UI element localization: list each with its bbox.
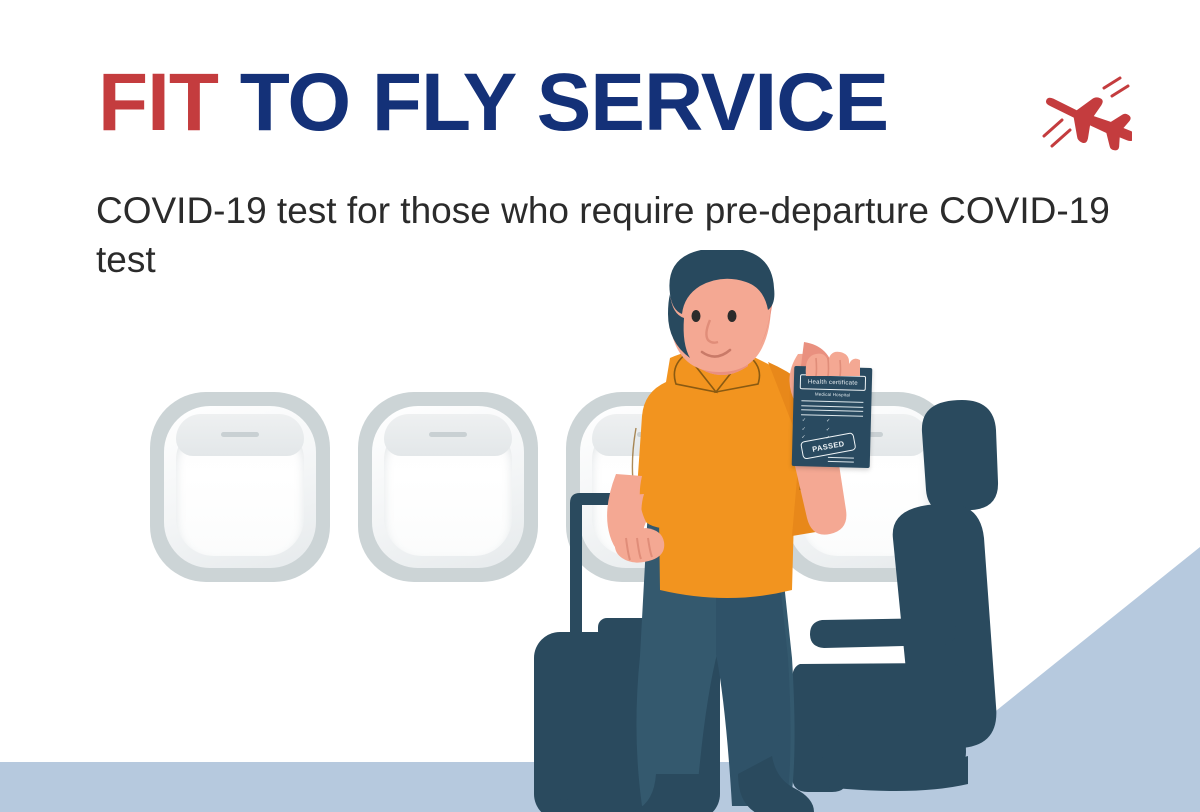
plane-window-2 <box>358 392 538 582</box>
window-shade <box>176 414 304 456</box>
check-icon: ✓ <box>826 427 830 432</box>
certificate-footer-line-2 <box>828 461 854 463</box>
window-shade-grip <box>429 432 467 437</box>
certificate-footer-line-1 <box>828 457 854 459</box>
title-part-fit: FIT <box>98 57 218 148</box>
airplane-icon <box>1040 74 1132 154</box>
check-icon: ✓ <box>802 427 806 432</box>
window-shade-grip <box>221 432 259 437</box>
eye-left <box>692 310 701 322</box>
eye-right <box>728 310 737 322</box>
checklist-column-left: ✓ ✓ ✓ <box>801 418 806 440</box>
traveler-illustration <box>520 250 920 812</box>
passed-stamp-label: PASSED <box>811 439 845 454</box>
certificate-text-lines <box>801 400 863 420</box>
plane-window-1 <box>150 392 330 582</box>
certificate-subtitle: Medical Hospital <box>794 391 872 398</box>
check-icon: ✓ <box>801 435 805 440</box>
title-part-to-fly-service: TO FLY SERVICE <box>218 57 888 148</box>
page-title: FIT TO FLY SERVICE <box>98 62 888 144</box>
window-shade <box>384 414 512 456</box>
hand-right-fingers <box>800 350 860 382</box>
check-icon: ✓ <box>802 418 806 423</box>
seat-headrest <box>922 400 998 512</box>
poster-canvas: Health certificate Medical Hospital ✓ ✓ … <box>0 0 1200 812</box>
check-icon: ✓ <box>826 419 830 424</box>
page-subtitle: COVID-19 test for those who require pre-… <box>96 186 1136 284</box>
